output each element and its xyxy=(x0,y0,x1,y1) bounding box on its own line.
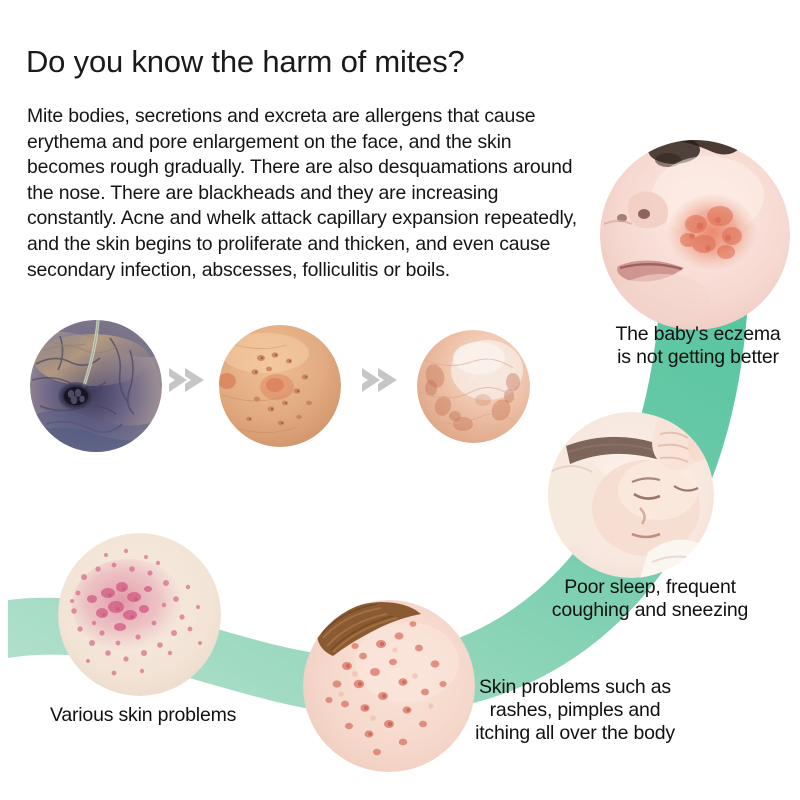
caption-baby-eczema: The baby's eczema is not getting better xyxy=(600,323,796,369)
caption-body-rashes: Skin problems such as rashes, pimples an… xyxy=(450,676,700,745)
body-paragraph: Mite bodies, secretions and excreta are … xyxy=(27,104,587,283)
symptom-photo-poor-sleep xyxy=(548,412,714,578)
page-title: Do you know the harm of mites? xyxy=(26,44,465,80)
caption-various-skin-problems: Various skin problems xyxy=(50,704,310,727)
infographic-poster: Do you know the harm of mites? Mite bodi… xyxy=(0,0,800,800)
progression-photo-skin-bumps xyxy=(219,325,341,447)
double-chevron-arrow-2 xyxy=(360,364,400,396)
symptom-photo-various-skin-problems xyxy=(58,533,221,696)
progression-photo-mite-microscope xyxy=(30,320,162,452)
symptom-photo-baby-eczema xyxy=(600,140,790,330)
progression-photo-inflamed-skin xyxy=(417,330,530,443)
double-chevron-arrow-1 xyxy=(167,364,207,396)
caption-poor-sleep: Poor sleep, frequent coughing and sneezi… xyxy=(536,576,764,622)
